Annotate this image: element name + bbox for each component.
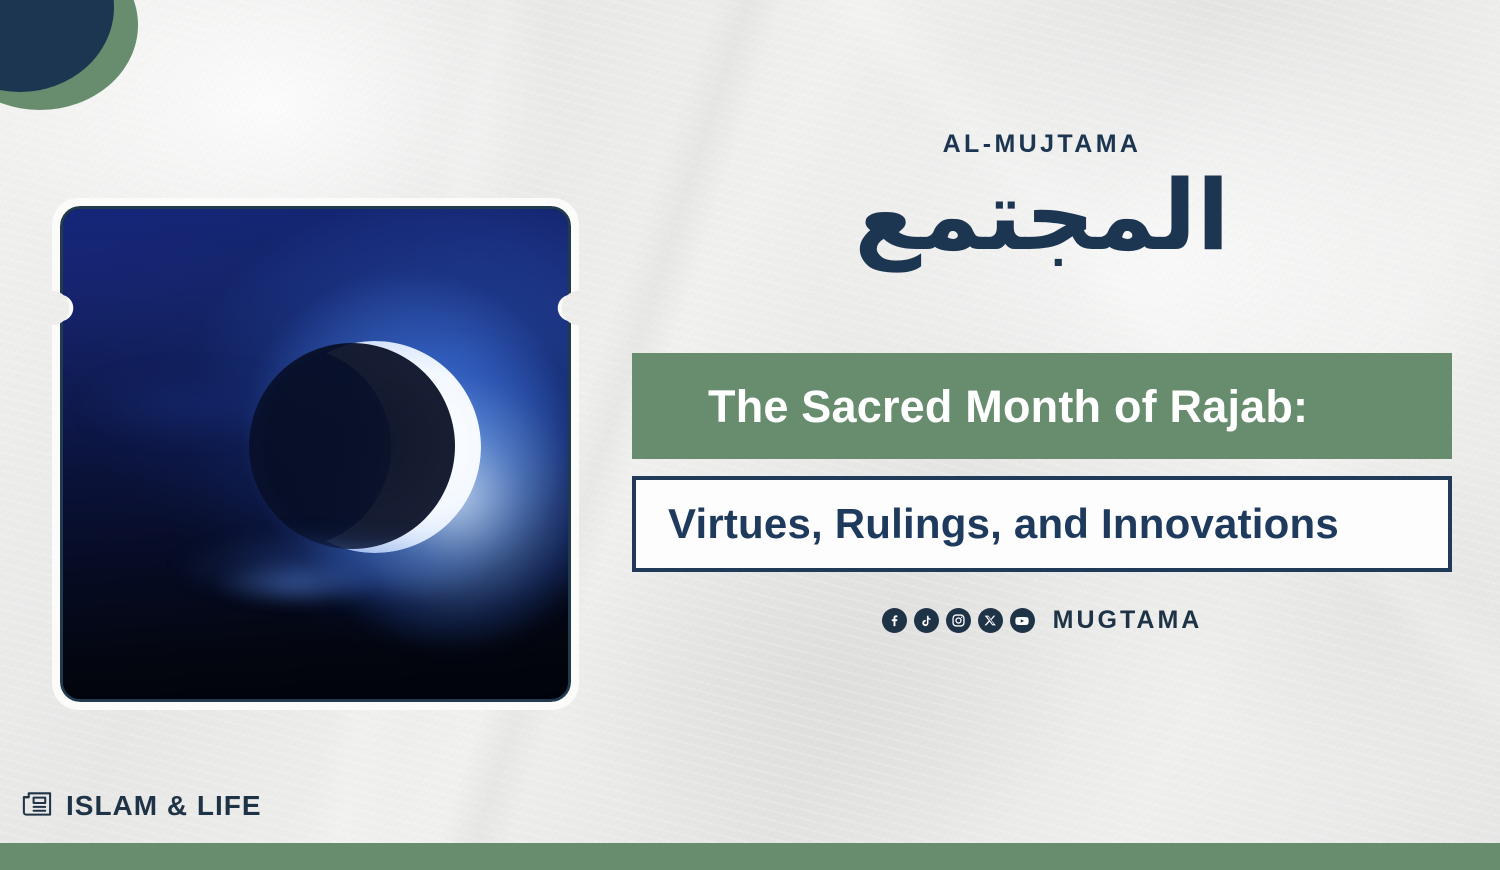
headline-line-2-text: Virtues, Rulings, and Innovations (668, 503, 1339, 545)
brand-logo: AL-MUJTAMA المجتمع (632, 132, 1452, 270)
headline-line-1-text: The Sacred Month of Rajab: (708, 384, 1308, 429)
social-links-row: MUGTAMA (632, 608, 1452, 633)
social-handle-text: MUGTAMA (1053, 608, 1203, 633)
newspaper-icon (20, 788, 53, 823)
brand-arabic-name: المجتمع (632, 163, 1452, 270)
bottom-accent-bar (0, 843, 1500, 870)
cloud-lower-bright (174, 552, 416, 616)
headline-line-2: Virtues, Rulings, and Innovations (632, 476, 1452, 572)
facebook-icon[interactable] (882, 608, 907, 633)
youtube-icon[interactable] (1010, 608, 1035, 633)
poster-canvas: AL-MUJTAMA المجتمع The Sacred Month of R… (0, 0, 1500, 870)
tiktok-icon[interactable] (914, 608, 939, 633)
instagram-icon[interactable] (946, 608, 971, 633)
x-twitter-icon[interactable] (978, 608, 1003, 633)
brand-latin-name: AL-MUJTAMA (632, 132, 1452, 157)
crescent-moon-image (60, 206, 571, 702)
category-badge-label: ISLAM & LIFE (66, 792, 262, 820)
headline-line-1: The Sacred Month of Rajab: (632, 353, 1452, 459)
category-badge: ISLAM & LIFE (20, 788, 262, 823)
feature-image-card (52, 198, 579, 710)
